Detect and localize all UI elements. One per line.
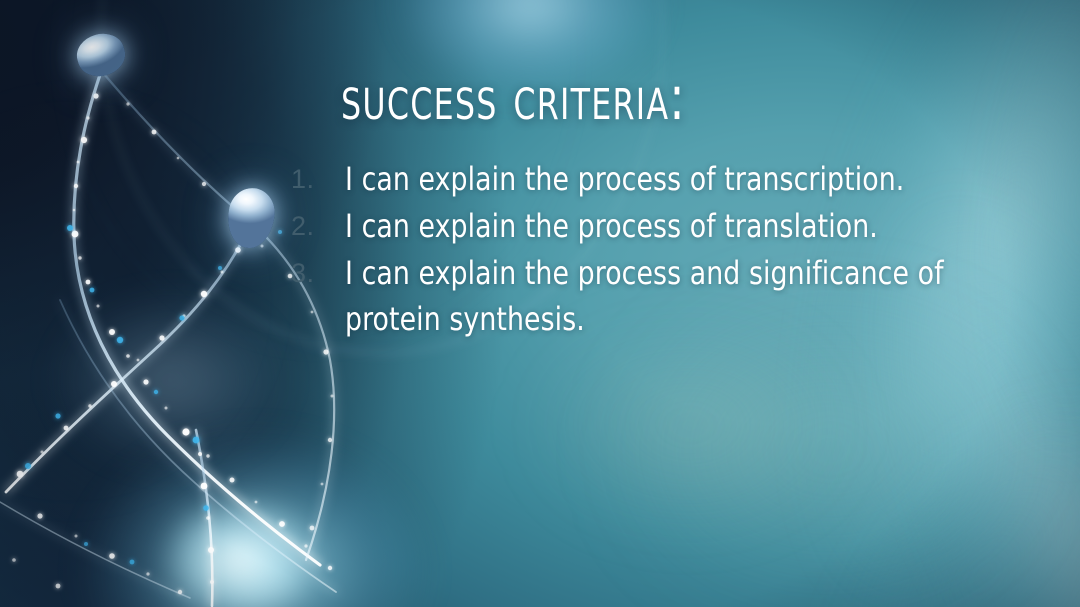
success-criteria-list: 1. I can explain the process of transcri…	[291, 156, 991, 343]
list-item-number: 2.	[291, 203, 345, 249]
slide-canvas: Success Criteria: 1. I can explain the p…	[0, 0, 1080, 607]
list-item-text: I can explain the process and significan…	[345, 250, 946, 342]
list-item: 2. I can explain the process of translat…	[291, 203, 991, 249]
list-item: 1. I can explain the process of transcri…	[291, 156, 991, 202]
blurred-helix-band-4	[766, 343, 1080, 607]
list-item: 3. I can explain the process and signifi…	[291, 250, 991, 342]
list-item-number: 3.	[291, 250, 345, 296]
slide-title: Success Criteria:	[341, 62, 686, 134]
list-item-number: 1.	[291, 156, 345, 202]
list-item-text: I can explain the process of translation…	[345, 203, 946, 249]
blurred-center-haze	[620, 300, 1040, 600]
list-item-text: I can explain the process of transcripti…	[345, 156, 946, 202]
glow-center-warm	[540, 330, 840, 520]
